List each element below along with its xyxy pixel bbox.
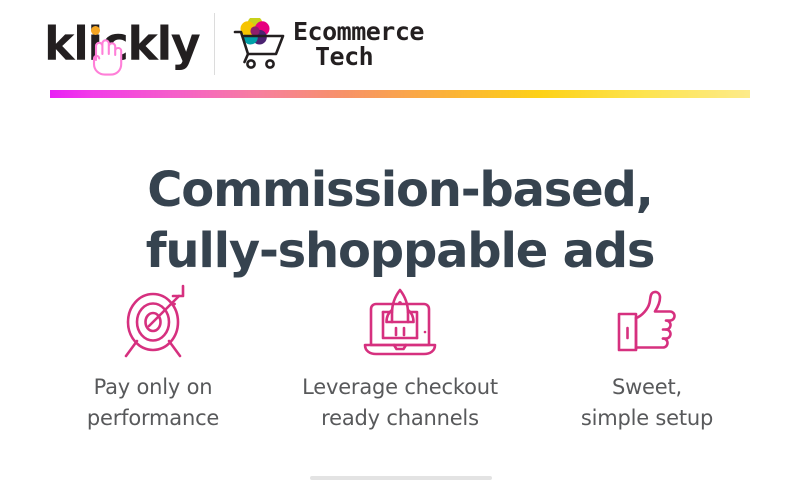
page-title-line1: Commission-based,: [0, 160, 800, 220]
klickly-logo[interactable]: klickly: [44, 14, 196, 74]
logo-separator: [214, 13, 215, 75]
feature-label-3-line2: simple setup: [581, 403, 713, 434]
feature-label-1: Pay only on performance: [87, 372, 219, 434]
feature-label-2-line2: ready channels: [302, 403, 498, 434]
feature-item-sweet-simple-setup: Sweet, simple setup: [524, 288, 770, 434]
feature-label-2: Leverage checkout ready channels: [302, 372, 498, 434]
feature-label-1-line1: Pay only on: [87, 372, 219, 403]
page-title-line2: fully-shoppable ads: [0, 221, 800, 281]
ecommerce-tech-line2: Tech: [293, 42, 373, 71]
page-title: Commission-based, fully-shoppable ads: [0, 160, 800, 281]
shopping-cart-color-petals-icon: [233, 18, 291, 70]
feature-label-3-line1: Sweet,: [581, 372, 713, 403]
feature-item-leverage-checkout-ready-channels: Leverage checkout ready channels: [277, 288, 523, 434]
brand-gradient-rule: [50, 90, 750, 98]
feature-row: Pay only on performance: [30, 288, 770, 434]
feature-label-3: Sweet, simple setup: [581, 372, 713, 434]
feature-label-2-line1: Leverage checkout: [302, 372, 498, 403]
feature-label-1-line2: performance: [87, 403, 219, 434]
laptop-rocket-launch-icon: [356, 288, 444, 356]
target-bullseye-arrow-icon: [111, 288, 195, 356]
slide-root: klickly: [0, 0, 800, 500]
section-divider: [310, 476, 492, 480]
pointer-hand-cursor-icon: [84, 32, 124, 76]
thumbs-up-icon: [605, 288, 689, 356]
ecommerce-tech-logo[interactable]: Ecommerce Tech: [233, 18, 424, 70]
logo-lockup-header: klickly: [0, 0, 800, 88]
feature-item-pay-only-on-performance: Pay only on performance: [30, 288, 276, 434]
ecommerce-tech-wordmark: Ecommerce Tech: [293, 19, 424, 70]
